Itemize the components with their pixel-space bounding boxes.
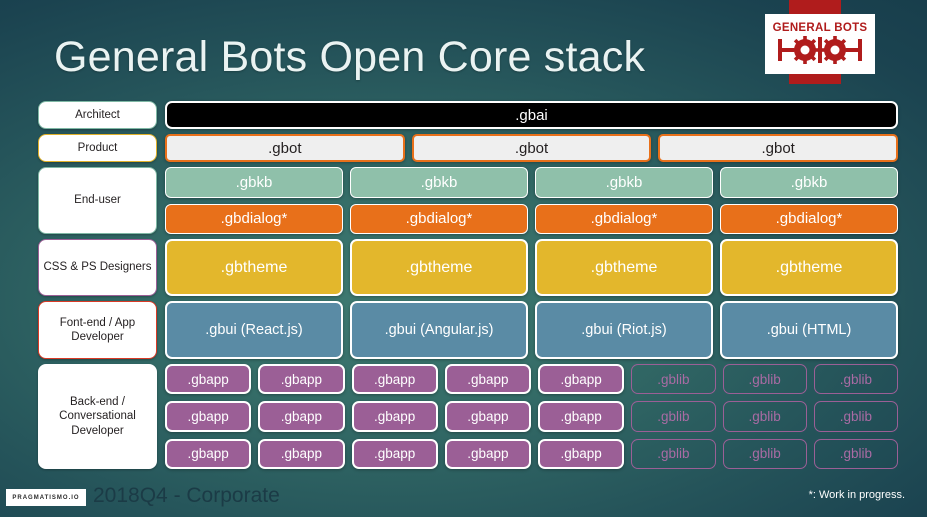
- slide-canvas: GENERAL BOTS: [0, 0, 927, 517]
- block-gbdialog[interactable]: .gbdialog*: [535, 204, 713, 235]
- block-gblib[interactable]: .gblib: [814, 364, 898, 394]
- gbapp-gblib-row: .gbapp .gbapp .gbapp .gbapp .gbapp .gbli…: [165, 364, 898, 394]
- block-gbapp[interactable]: .gbapp: [352, 401, 438, 431]
- block-gbtheme[interactable]: .gbtheme: [165, 239, 343, 296]
- page-title: General Bots Open Core stack: [54, 33, 645, 82]
- row-front-end-app-developer: Font-end / App Developer .gbui (React.js…: [38, 301, 898, 359]
- block-gbui-riot[interactable]: .gbui (Riot.js): [535, 301, 713, 359]
- row-theme-cells: .gbtheme .gbtheme .gbtheme .gbtheme: [165, 239, 898, 296]
- block-gbapp[interactable]: .gbapp: [445, 364, 531, 394]
- row-back-end-conversational-developer: Back-end / Conversational Developer .gba…: [38, 364, 898, 469]
- block-gbot[interactable]: .gbot: [658, 134, 898, 162]
- pragmatismo-logo: PRAGMATISMO.IO: [6, 489, 86, 506]
- block-gblib[interactable]: .gblib: [631, 439, 715, 469]
- block-gblib[interactable]: .gblib: [631, 401, 715, 431]
- row-product-cells: .gbot .gbot .gbot: [165, 134, 898, 162]
- block-gbapp[interactable]: .gbapp: [445, 401, 531, 431]
- role-label-front-end-app-developer: Font-end / App Developer: [38, 301, 157, 359]
- row-css-ps-designers: CSS & PS Designers .gbtheme .gbtheme .gb…: [38, 239, 898, 296]
- block-gbapp[interactable]: .gbapp: [538, 439, 624, 469]
- row-end-user-cells: .gbkb .gbkb .gbkb .gbkb .gbdialog* .gbdi…: [165, 167, 898, 234]
- block-gbapp[interactable]: .gbapp: [538, 364, 624, 394]
- block-gbkb[interactable]: .gbkb: [350, 167, 528, 198]
- block-gbui-angular[interactable]: .gbui (Angular.js): [350, 301, 528, 359]
- block-gbot[interactable]: .gbot: [412, 134, 652, 162]
- block-gblib[interactable]: .gblib: [723, 439, 807, 469]
- row-gbui-cells: .gbui (React.js) .gbui (Angular.js) .gbu…: [165, 301, 898, 359]
- block-gbui-react[interactable]: .gbui (React.js): [165, 301, 343, 359]
- block-gbtheme[interactable]: .gbtheme: [535, 239, 713, 296]
- footnote-work-in-progress: *: Work in progress.: [809, 489, 905, 501]
- subrow-gbdialog: .gbdialog* .gbdialog* .gbdialog* .gbdial…: [165, 204, 898, 235]
- role-label-product: Product: [38, 134, 157, 162]
- gears-icon: [774, 35, 866, 65]
- block-gbtheme[interactable]: .gbtheme: [350, 239, 528, 296]
- block-gbapp[interactable]: .gbapp: [445, 439, 531, 469]
- block-gbtheme[interactable]: .gbtheme: [720, 239, 898, 296]
- block-gbapp[interactable]: .gbapp: [352, 439, 438, 469]
- row-gbapp-gblib-grid: .gbapp .gbapp .gbapp .gbapp .gbapp .gbli…: [165, 364, 898, 469]
- role-label-back-end-conversational-developer: Back-end / Conversational Developer: [38, 364, 157, 469]
- block-gblib[interactable]: .gblib: [814, 439, 898, 469]
- block-gblib[interactable]: .gblib: [723, 364, 807, 394]
- block-gbdialog[interactable]: .gbdialog*: [350, 204, 528, 235]
- block-gblib[interactable]: .gblib: [814, 401, 898, 431]
- gbapp-gblib-row: .gbapp .gbapp .gbapp .gbapp .gbapp .gbli…: [165, 439, 898, 469]
- block-gbui-html[interactable]: .gbui (HTML): [720, 301, 898, 359]
- block-gbapp[interactable]: .gbapp: [258, 439, 344, 469]
- block-gbapp[interactable]: .gbapp: [538, 401, 624, 431]
- block-gbai[interactable]: .gbai: [165, 101, 898, 129]
- block-gbapp[interactable]: .gbapp: [165, 439, 251, 469]
- block-gbapp[interactable]: .gbapp: [258, 364, 344, 394]
- pragmatismo-wordmark: PRAGMATISMO.IO: [12, 495, 79, 501]
- block-gbkb[interactable]: .gbkb: [165, 167, 343, 198]
- row-product: Product .gbot .gbot .gbot: [38, 134, 898, 162]
- block-gblib[interactable]: .gblib: [631, 364, 715, 394]
- row-architect: Architect .gbai: [38, 101, 898, 129]
- block-gbdialog[interactable]: .gbdialog*: [720, 204, 898, 235]
- row-architect-cells: .gbai: [165, 101, 898, 129]
- block-gbkb[interactable]: .gbkb: [720, 167, 898, 198]
- block-gbdialog[interactable]: .gbdialog*: [165, 204, 343, 235]
- logo-wordmark: GENERAL BOTS: [773, 23, 868, 35]
- block-gbapp[interactable]: .gbapp: [165, 364, 251, 394]
- row-end-user: End-user .gbkb .gbkb .gbkb .gbkb .gbdial…: [38, 167, 898, 234]
- role-label-css-ps-designers: CSS & PS Designers: [38, 239, 157, 296]
- role-label-architect: Architect: [38, 101, 157, 129]
- role-label-end-user: End-user: [38, 167, 157, 234]
- block-gbapp[interactable]: .gbapp: [352, 364, 438, 394]
- block-gblib[interactable]: .gblib: [723, 401, 807, 431]
- slide-footer: PRAGMATISMO.IO 2018Q4 - Corporate *: Wor…: [0, 483, 927, 517]
- footer-caption: 2018Q4 - Corporate: [93, 484, 280, 508]
- subrow-gbkb: .gbkb .gbkb .gbkb .gbkb: [165, 167, 898, 198]
- block-gbot[interactable]: .gbot: [165, 134, 405, 162]
- block-gbapp[interactable]: .gbapp: [258, 401, 344, 431]
- general-bots-logo: GENERAL BOTS: [765, 14, 875, 74]
- stack-diagram: Architect .gbai Product .gbot .gbot .gbo…: [38, 101, 898, 474]
- block-gbapp[interactable]: .gbapp: [165, 401, 251, 431]
- gbapp-gblib-row: .gbapp .gbapp .gbapp .gbapp .gbapp .gbli…: [165, 401, 898, 431]
- block-gbkb[interactable]: .gbkb: [535, 167, 713, 198]
